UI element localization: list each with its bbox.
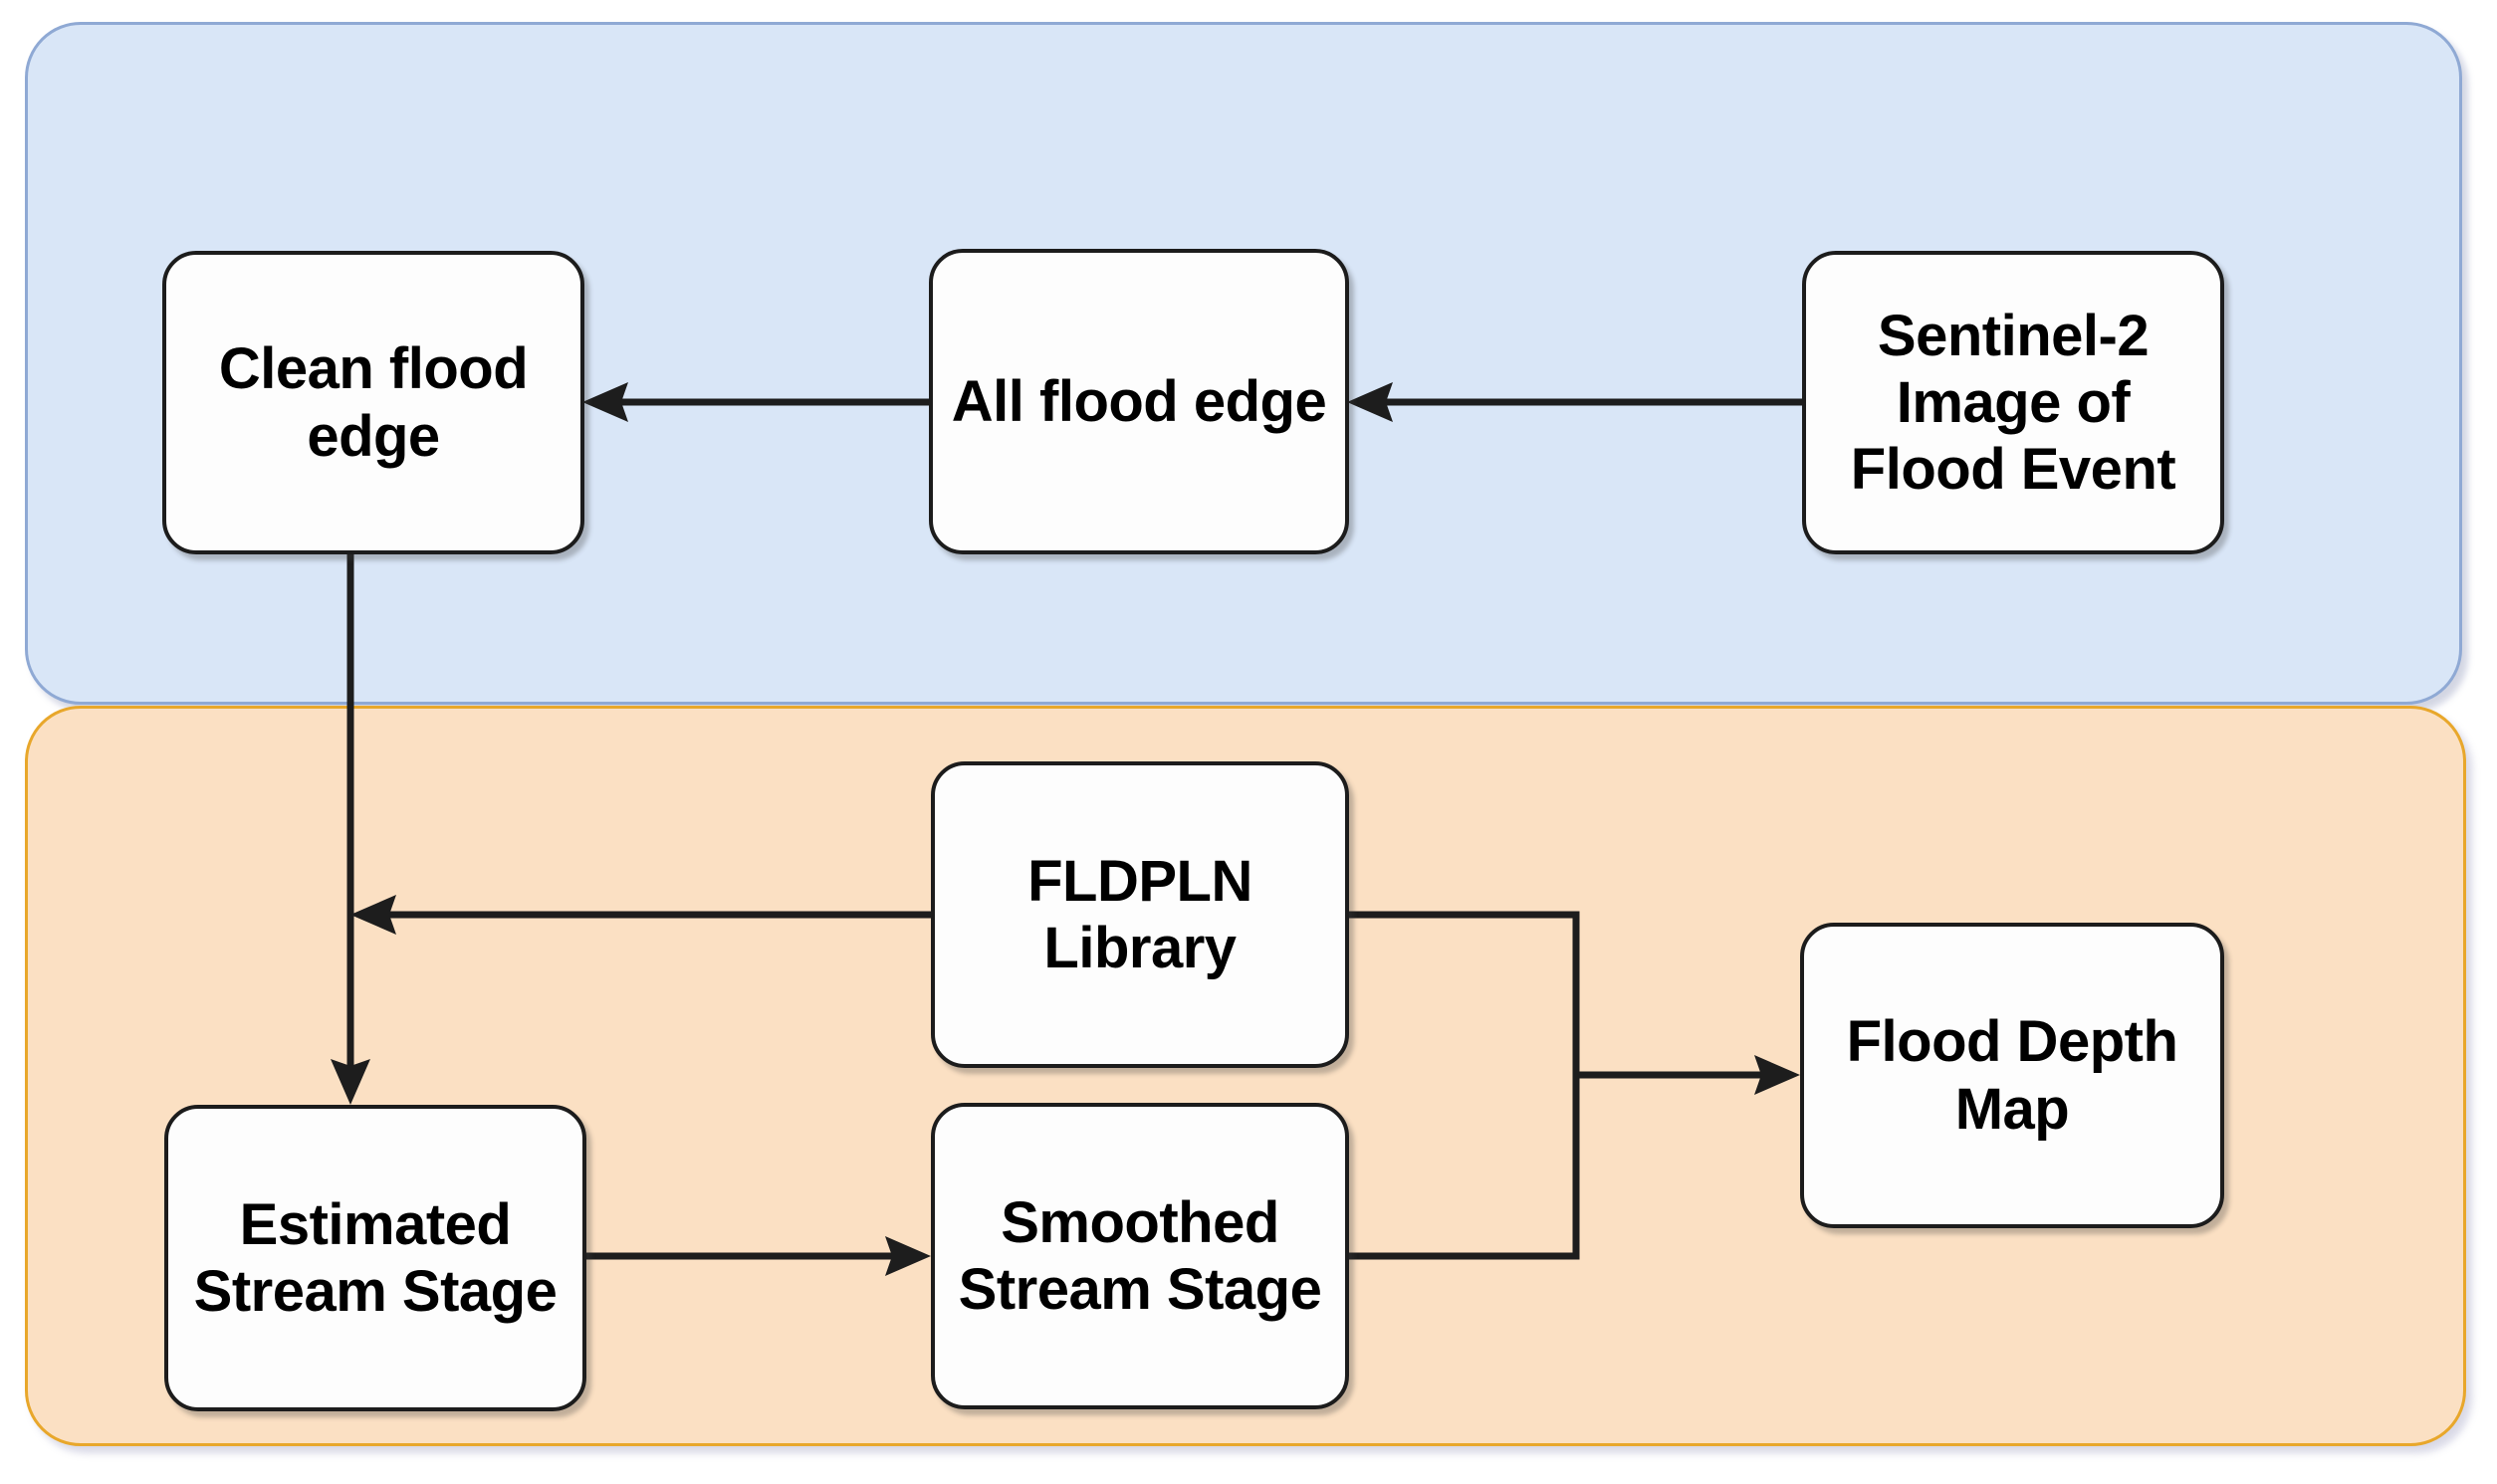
node-all-flood-edge[interactable]: All flood edge — [929, 249, 1349, 554]
node-fldpln-library[interactable]: FLDPLN Library — [931, 761, 1349, 1068]
node-sentinel-2-image-of-flood-event[interactable]: Sentinel-2 Image of Flood Event — [1802, 251, 2224, 554]
node-clean-flood-edge[interactable]: Clean flood edge — [162, 251, 584, 554]
node-estimated-stream-stage[interactable]: Estimated Stream Stage — [164, 1105, 586, 1411]
node-flood-depth-map[interactable]: Flood Depth Map — [1800, 923, 2224, 1228]
node-fldpln-library-label: FLDPLN Library — [1027, 848, 1252, 982]
node-smoothed-stream-stage[interactable]: Smoothed Stream Stage — [931, 1103, 1349, 1409]
diagram-canvas: Clean flood edge All flood edge Sentinel… — [0, 0, 2497, 1484]
node-estimated-stream-stage-label: Estimated Stream Stage — [194, 1191, 558, 1326]
node-flood-depth-map-label: Flood Depth Map — [1847, 1008, 2178, 1143]
node-smoothed-stream-stage-label: Smoothed Stream Stage — [959, 1189, 1322, 1324]
node-all-flood-edge-label: All flood edge — [952, 368, 1326, 435]
node-clean-flood-edge-label: Clean flood edge — [219, 335, 528, 470]
node-sentinel-2-image-of-flood-event-label: Sentinel-2 Image of Flood Event — [1851, 303, 2175, 504]
